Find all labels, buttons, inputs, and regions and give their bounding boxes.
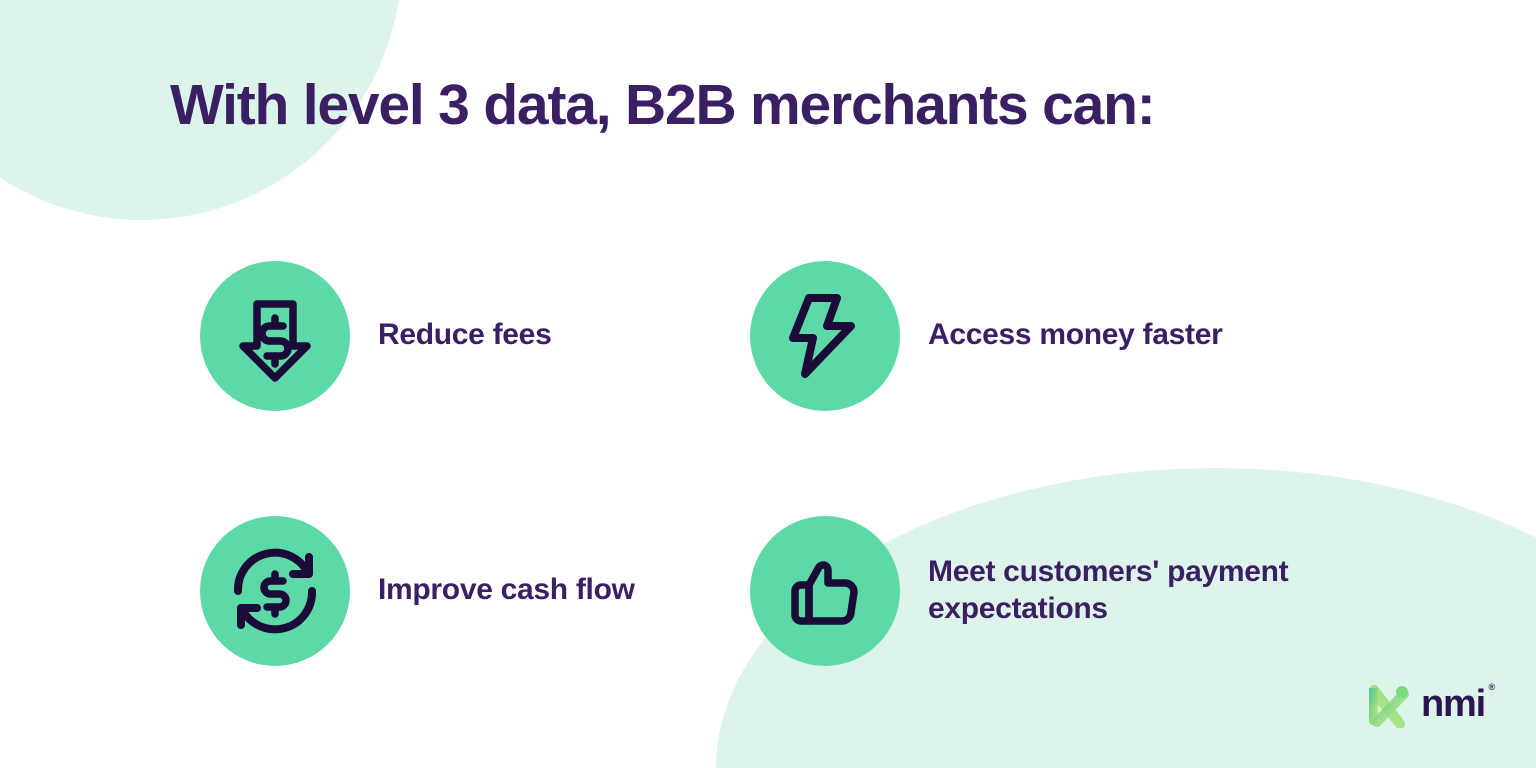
nmi-logo: nmi ® [1364,680,1485,728]
dollar-refresh-cycle-icon [229,545,321,637]
page-title: With level 3 data, B2B merchants can: [170,74,1155,137]
lightning-bolt-icon [779,290,871,382]
benefit-icon-badge [750,516,900,666]
benefit-item: Improve cash flow [200,463,750,718]
arrow-down-dollar-icon [229,290,321,382]
benefit-label: Reduce fees [378,317,551,354]
nmi-wordmark-text: nmi [1421,683,1485,725]
benefit-item: Reduce fees [200,208,750,463]
registered-mark: ® [1489,683,1494,692]
nmi-logo-mark-icon [1364,680,1412,728]
benefit-label: Access money faster [928,317,1222,354]
benefit-icon-badge [200,516,350,666]
benefit-item: Meet customers' payment expectations [750,463,1300,718]
benefit-icon-badge [750,261,900,411]
benefits-grid: Reduce fees Access money faster [200,208,1380,718]
nmi-wordmark: nmi ® [1421,685,1485,723]
benefit-label: Meet customers' payment expectations [928,554,1300,627]
benefit-item: Access money faster [750,208,1300,463]
thumbs-up-icon [779,545,871,637]
benefit-icon-badge [200,261,350,411]
benefit-label: Improve cash flow [378,572,635,609]
infographic-slide: With level 3 data, B2B merchants can: Re… [0,0,1536,768]
